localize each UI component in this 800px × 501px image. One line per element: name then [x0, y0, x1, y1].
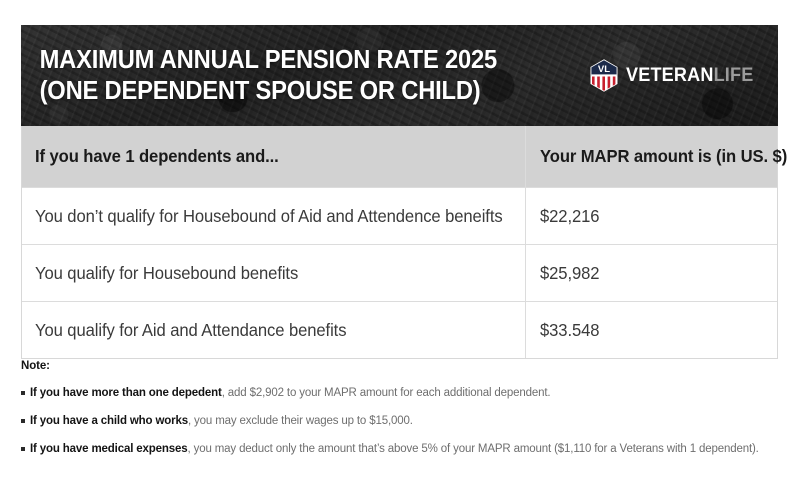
- notes-section: Note: If you have more than one depedent…: [21, 360, 761, 469]
- bullet-square-icon: [21, 447, 25, 451]
- cell-amount: $22,216: [525, 188, 777, 244]
- header-banner: MAXIMUM ANNUAL PENSION RATE 2025 (ONE DE…: [21, 25, 778, 126]
- svg-text:VL: VL: [598, 64, 610, 75]
- brand-wordmark-secondary: LIFE: [713, 65, 753, 86]
- cell-amount: $25,982: [525, 245, 777, 301]
- page-title: MAXIMUM ANNUAL PENSION RATE 2025 (ONE DE…: [21, 45, 497, 107]
- note-list-item: If you have a child who works, you may e…: [21, 413, 761, 429]
- cell-condition: You don’t qualify for Housebound of Aid …: [22, 188, 525, 244]
- bullet-square-icon: [21, 419, 25, 423]
- table-header-row: If you have 1 dependents and... Your MAP…: [22, 126, 777, 187]
- column-header-condition: If you have 1 dependents and...: [22, 126, 525, 187]
- note-list-item: If you have more than one depedent, add …: [21, 385, 761, 401]
- note-text: If you have more than one depedent, add …: [30, 385, 761, 401]
- cell-condition: You qualify for Housebound benefits: [22, 245, 525, 301]
- note-list-item: If you have medical expenses, you may de…: [21, 441, 761, 457]
- note-emphasis: If you have medical expenses: [30, 443, 188, 455]
- note-emphasis: If you have a child who works: [30, 415, 188, 427]
- cell-amount: $33.548: [525, 302, 777, 358]
- table-row: You qualify for Housebound benefits $25,…: [22, 244, 777, 301]
- pension-rate-infographic: MAXIMUM ANNUAL PENSION RATE 2025 (ONE DE…: [0, 0, 800, 501]
- note-text: If you have a child who works, you may e…: [30, 413, 761, 429]
- note-text: If you have medical expenses, you may de…: [30, 441, 761, 457]
- column-header-amount: Your MAPR amount is (in US. $): [525, 126, 800, 187]
- notes-title: Note:: [21, 360, 761, 372]
- bullet-square-icon: [21, 391, 25, 395]
- table-row: You don’t qualify for Housebound of Aid …: [22, 187, 777, 244]
- veteranlife-badge-icon: VL: [589, 59, 619, 92]
- cell-condition: You qualify for Aid and Attendance benef…: [22, 302, 525, 358]
- brand-wordmark-primary: VETERAN: [626, 65, 714, 86]
- table-row: You qualify for Aid and Attendance benef…: [22, 301, 777, 358]
- mapr-rate-table: If you have 1 dependents and... Your MAP…: [21, 126, 778, 359]
- page-title-line-1: MAXIMUM ANNUAL PENSION RATE 2025: [40, 45, 497, 76]
- brand-logo: VL VETERANLIFE: [589, 59, 778, 92]
- note-emphasis: If you have more than one depedent: [30, 387, 222, 399]
- note-body: , add $2,902 to your MAPR amount for eac…: [222, 387, 551, 399]
- page-title-line-2: (ONE DEPENDENT SPOUSE OR CHILD): [40, 76, 497, 107]
- brand-wordmark: VETERANLIFE: [626, 65, 753, 87]
- note-body: , you may deduct only the amount that’s …: [188, 443, 759, 455]
- note-body: , you may exclude their wages up to $15,…: [188, 415, 413, 427]
